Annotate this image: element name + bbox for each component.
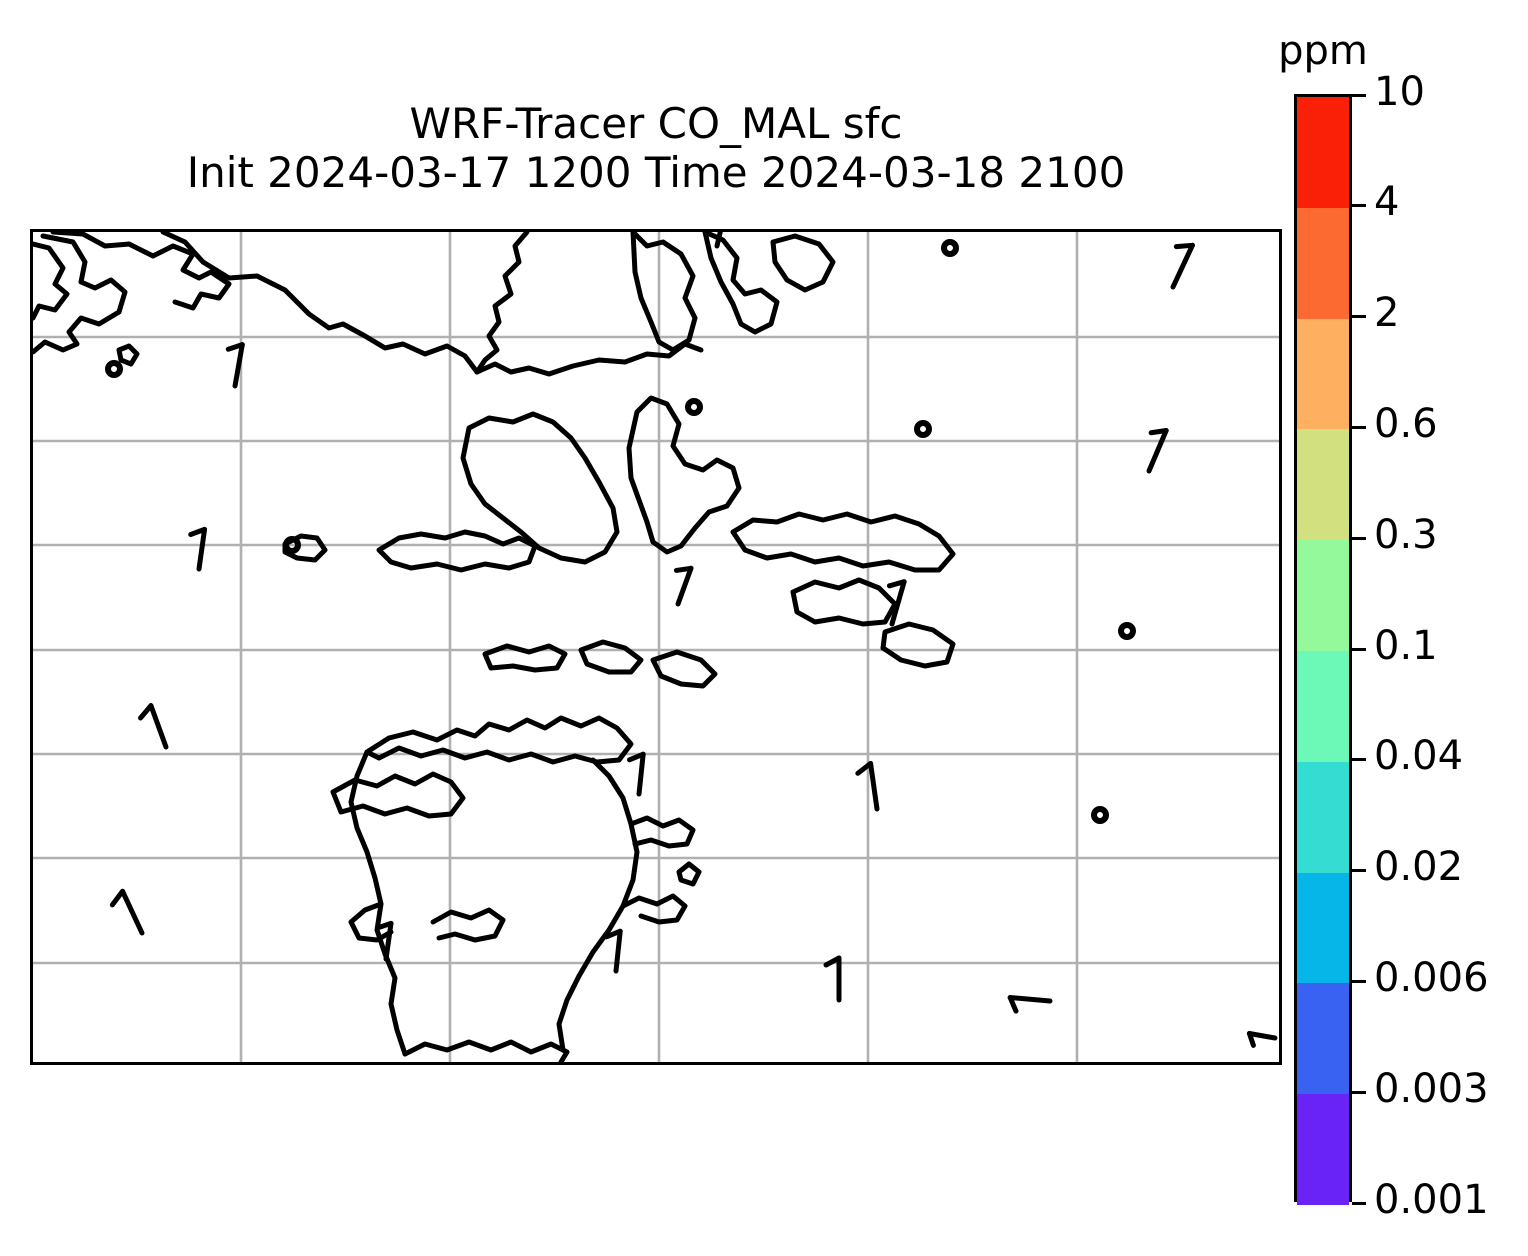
wind-barb [1009, 998, 1050, 1014]
colorbar-band [1297, 208, 1349, 319]
wind-barb [109, 891, 142, 939]
title-line-2: Init 2024-03-17 1200 Time 2024-03-18 210… [30, 149, 1282, 198]
wind-barb [1247, 1033, 1275, 1048]
colorbar-tick-mark [1352, 315, 1366, 318]
calm-marker [944, 242, 956, 254]
page-title: WRF-Tracer CO_MAL sfc Init 2024-03-17 12… [30, 100, 1282, 197]
colorbar-tick-mark [1352, 426, 1366, 429]
wind-barb [626, 753, 643, 794]
colorbar-band [1297, 762, 1349, 873]
wind-barb [222, 342, 242, 386]
colorbar-tick-label: 0.1 [1374, 626, 1438, 666]
title-line-1: WRF-Tracer CO_MAL sfc [30, 100, 1282, 149]
colorbar-tick-mark [1352, 537, 1366, 540]
map-axes[interactable] [30, 229, 1282, 1065]
colorbar-tick-label: 0.3 [1374, 515, 1438, 555]
colorbar-tick-label: 2 [1374, 293, 1399, 333]
colorbar-tick-mark [1352, 648, 1366, 651]
calm-marker [108, 363, 120, 375]
colorbar[interactable] [1294, 94, 1352, 1202]
wind-barb [138, 706, 166, 752]
colorbar-tick-mark [1352, 758, 1366, 761]
colorbar-unit-label: ppm [1258, 28, 1388, 74]
map-plot-area [33, 232, 1279, 1062]
colorbar-band [1297, 429, 1349, 540]
colorbar-band [1297, 651, 1349, 762]
colorbar-band [1297, 540, 1349, 651]
colorbar-tick-label: 0.003 [1374, 1069, 1489, 1109]
calm-marker [1094, 809, 1106, 821]
colorbar-band [1297, 873, 1349, 983]
colorbar-tick-label: 0.04 [1374, 736, 1463, 776]
wind-barb [603, 930, 620, 971]
colorbar-band [1297, 1094, 1349, 1205]
calm-marker [917, 423, 929, 435]
colorbar-tick-mark [1352, 869, 1366, 872]
coastlines [33, 232, 953, 1062]
colorbar-tick-label: 0.6 [1374, 404, 1438, 444]
colorbar-tick-label: 4 [1374, 182, 1399, 222]
colorbar-tick-mark [1352, 94, 1366, 97]
calm-marker [1121, 625, 1133, 637]
colorbar-tick-label: 0.001 [1374, 1180, 1489, 1220]
wind-barb [666, 564, 691, 604]
wind-barb [1160, 239, 1192, 287]
figure-canvas: WRF-Tracer CO_MAL sfc Init 2024-03-17 12… [0, 0, 1528, 1256]
colorbar-band [1297, 97, 1349, 208]
colorbar-tick-label: 0.02 [1374, 847, 1463, 887]
wind-barbs [109, 232, 1275, 1049]
colorbar-band [1297, 319, 1349, 429]
calm-marker [688, 401, 700, 413]
colorbar-tick-label: 10 [1374, 72, 1425, 112]
colorbar-tick-mark [1352, 1202, 1366, 1205]
wind-barb [186, 528, 204, 569]
colorbar-tick-mark [1352, 1091, 1366, 1094]
colorbar-band [1297, 983, 1349, 1094]
colorbar-tick-mark [1352, 204, 1366, 207]
wind-barb [826, 958, 839, 1000]
colorbar-tick-mark [1352, 980, 1366, 983]
wind-barb [1137, 425, 1166, 471]
colorbar-tick-label: 0.006 [1374, 958, 1489, 998]
